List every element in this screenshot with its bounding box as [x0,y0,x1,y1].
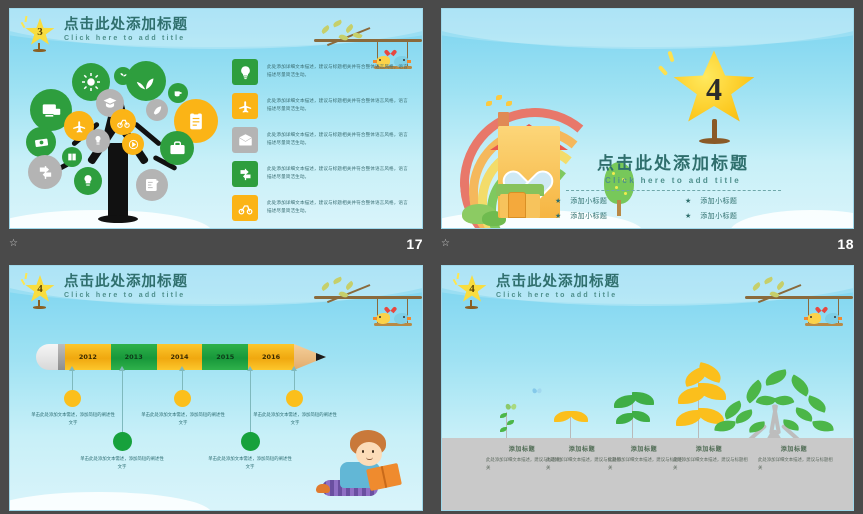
heart-icon [387,49,395,56]
slide-header: 3 点击此处添加标题 Click here to add title [24,18,188,51]
bullet-item[interactable]: ★ 添加小标题 [673,196,803,206]
bike-icon [232,195,258,221]
slide-cell-17[interactable]: 3 点击此处添加标题 Click here to add title [0,0,432,257]
tree-icon-node [146,99,168,121]
page-title: 点击此处添加标题 [543,149,803,174]
bullet-item[interactable]: ★ 添加小标题 [543,196,673,206]
cloud-decoration [9,492,212,511]
star-bullet-icon: ★ [555,197,561,205]
ground-panel: 添加标题 此处添加详细文本描述，建议与标题相关 添加标题 此处添加详细文本描述，… [442,438,853,510]
tree-icon-node [28,155,62,189]
caption-text: 此处添加详细文本描述，建议与标题相关 [752,457,836,473]
star-number: 3 [24,26,56,38]
timeline-node[interactable] [174,390,191,407]
tree-icon-node [168,83,188,103]
page-subtitle: Click here to add title [64,35,188,42]
list-item[interactable]: 此处添加详细文本描述，建议与标题相关并符合整体语言风格，语言描述尽量简洁生动。 [232,127,410,153]
growth-caption: 添加标题 此处添加详细文本描述，建议与标题相关 [752,444,836,473]
slide-20[interactable]: 4 点击此处添加标题 Click here to add title [441,265,854,511]
bullet-item[interactable]: ★ 添加小标题 [673,211,803,221]
slide-cell-20[interactable]: 4 点击此处添加标题 Click here to add title [432,257,863,514]
tree-icon-node [136,169,168,201]
tree-icon-node [26,127,56,157]
list-item[interactable]: 此处添加详细文本描述，建议与标题相关并符合整体语言风格，语言描述尽量简洁生动。 [232,161,410,187]
slide-cell-19[interactable]: 4 点击此处添加标题 Click here to add title [0,257,432,514]
bird-yellow-icon [807,313,821,324]
list-item[interactable]: 此处添加详细文本描述，建议与标题相关并符合整体语言风格，语言描述尽量简洁生动。 [232,93,410,119]
tree-icon-node [74,167,102,195]
star-bullet-icon: ★ [685,197,691,205]
tree-icon-node [62,147,82,167]
page-number: 17 [406,236,423,252]
page-title: 点击此处添加标题 [64,18,188,34]
mail-icon [232,127,258,153]
page-subtitle: Click here to add title [64,292,188,299]
bullet-label: 添加小标题 [570,211,607,221]
slide-header: 4 点击此处添加标题 Click here to add title [24,275,188,308]
list-item-text: 此处添加详细文本描述，建议与标题相关并符合整体语言风格，语言描述尽量简洁生动。 [267,132,410,148]
signpost-icon [232,161,258,187]
timeline-segment[interactable]: 2016 [248,344,294,370]
timeline-node[interactable] [286,390,303,407]
growth-caption: 添加标题 此处添加详细文本描述，建议与标题相关 [667,444,751,473]
tree-icon-node [86,129,110,153]
tree-icon-node [114,67,132,85]
page-subtitle: Click here to add title [496,292,620,299]
slide-19[interactable]: 4 点击此处添加标题 Click here to add title [9,265,423,511]
star-badge-icon: 4 [671,49,757,145]
icon-tree-infographic [26,61,216,221]
page-number: 18 [837,236,854,252]
star-number: 4 [671,71,757,108]
bird-swing-decoration [743,270,853,336]
slide-thumbnail-grid: 3 点击此处添加标题 Click here to add title [0,0,863,514]
star-outline-icon[interactable]: ☆ [441,239,450,249]
timeline-segment[interactable]: 2013 [111,344,157,370]
page-title: 点击此处添加标题 [64,275,188,291]
divider [566,190,781,191]
star-number: 4 [24,283,56,295]
tree-icon-node [160,131,194,165]
pencil-ferrule [58,344,65,370]
sky-wave [441,8,854,49]
plane-icon [232,93,258,119]
star-number: 4 [456,283,488,295]
pencil-eraser [36,344,58,370]
tree-icon-node [110,109,136,135]
list-item-text: 此处添加详细文本描述，建议与标题相关并符合整体语言风格，语言描述尽量简洁生动。 [267,98,410,114]
heart-icon [818,306,826,313]
timeline-caption: 单击此处添加文本需述，添加简短的阐述性文字 [80,456,164,472]
caption-heading: 添加标题 [752,444,836,453]
star-outline-icon[interactable]: ☆ [9,239,18,249]
timeline-caption: 单击此处添加文本需述，添加简短的阐述性文字 [141,412,225,428]
star-badge-icon: 4 [24,275,57,308]
caption-text: 此处添加详细文本描述，建议与标题相关 [667,457,751,473]
reading-boy-illustration [316,428,408,504]
timeline-caption: 单击此处添加文本需述，添加简短的阐述性文字 [31,412,115,428]
slide-17[interactable]: 3 点击此处添加标题 Click here to add title [9,8,423,229]
tree-icon-node [126,61,166,101]
bird-yellow-icon [376,313,390,324]
page-subtitle: Click here to add title [543,176,803,185]
list-item-text: 此处添加详细文本描述，建议与标题相关并符合整体语言风格，语言描述尽量简洁生动。 [267,200,410,216]
slide-footer: ☆ 17 [0,231,432,257]
tree-icon-node [122,133,144,155]
bullet-grid: ★ 添加小标题 ★ 添加小标题 ★ 添加小标题 ★ 添加小标题 [543,196,803,221]
bullet-label: 添加小标题 [570,196,607,206]
bird-blue-icon [825,313,839,324]
bullet-label: 添加小标题 [700,211,737,221]
star-badge-icon: 3 [24,18,57,51]
timeline-caption: 单击此处添加文本需述，添加简短的阐述性文字 [208,456,292,472]
bullet-item[interactable]: ★ 添加小标题 [543,211,673,221]
slide-title-block: 点击此处添加标题 Click here to add title ★ 添加小标题… [543,149,803,221]
list-item[interactable]: 此处添加详细文本描述，建议与标题相关并符合整体语言风格，语言描述尽量简洁生动。 [232,59,410,85]
page-title: 点击此处添加标题 [496,275,620,291]
bullet-label: 添加小标题 [700,196,737,206]
slide-cell-18[interactable]: 4 点击此处添加标题 Click here to add title ★ 添加小… [432,0,863,257]
feature-list: 此处添加详细文本描述，建议与标题相关并符合整体语言风格，语言描述尽量简洁生动。 … [232,59,410,229]
star-badge-icon: 4 [456,275,489,308]
timeline-caption: 单击此处添加文本需述，添加简短的阐述性文字 [253,412,337,428]
slide-footer: ☆ 18 [432,231,863,257]
slide-header: 4 点击此处添加标题 Click here to add title [456,275,620,308]
list-item[interactable]: 此处添加详细文本描述，建议与标题相关并符合整体语言风格，语言描述尽量简洁生动。 [232,195,410,221]
slide-18[interactable]: 4 点击此处添加标题 Click here to add title ★ 添加小… [441,8,854,229]
star-bullet-icon: ★ [555,212,561,220]
star-bullet-icon: ★ [685,212,691,220]
caption-heading: 添加标题 [667,444,751,453]
timeline-node[interactable] [113,432,132,451]
timeline-node[interactable] [64,390,81,407]
list-item-text: 此处添加详细文本描述，建议与标题相关并符合整体语言风格，语言描述尽量简洁生动。 [267,64,410,80]
bird-swing-decoration [312,270,422,336]
timeline-node[interactable] [241,432,260,451]
list-item-text: 此处添加详细文本描述，建议与标题相关并符合整体语言风格，语言描述尽量简洁生动。 [267,166,410,182]
heart-window-icon [512,158,544,186]
pencil-lead [316,353,326,361]
timeline-segment[interactable]: 2015 [202,344,248,370]
bird-blue-icon [394,313,408,324]
bulb-icon [232,59,258,85]
sky-wave [441,8,854,47]
heart-icon [387,306,395,313]
